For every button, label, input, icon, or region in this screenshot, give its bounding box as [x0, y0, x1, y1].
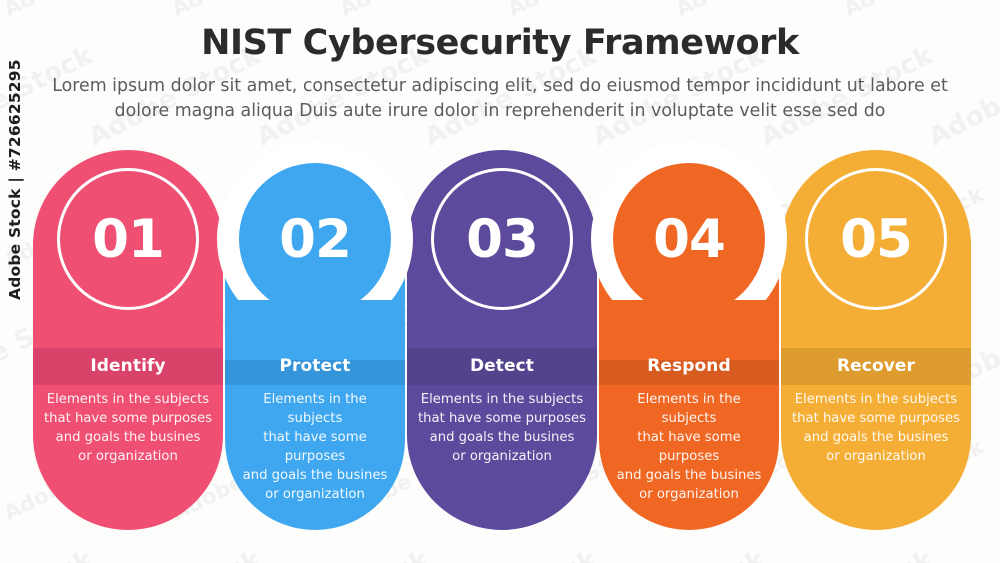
card-number-circle: 01 — [57, 168, 199, 310]
card-number-circle: 02 — [244, 168, 386, 310]
card-number: 01 — [92, 213, 164, 266]
card-description: Elements in the subjects that have some … — [781, 390, 971, 466]
card-number-circle: 04 — [618, 168, 760, 310]
page-title: NIST Cybersecurity Framework — [0, 0, 1000, 64]
card-title: Protect — [225, 353, 405, 379]
framework-card[interactable]: 03DetectElements in the subjects that ha… — [407, 150, 597, 530]
card-number-circle: 03 — [431, 168, 573, 310]
card-number: 05 — [840, 213, 912, 266]
framework-card[interactable]: 01IdentifyElements in the subjects that … — [33, 150, 223, 530]
card-number: 03 — [466, 213, 538, 266]
infographic-canvas: Adobe StockAdobe StockAdobe StockAdobe S… — [0, 0, 1000, 563]
page-subtitle: Lorem ipsum dolor sit amet, consectetur … — [50, 74, 950, 124]
framework-card[interactable]: 04RespondElements in the subjects that h… — [599, 150, 779, 530]
header: NIST Cybersecurity Framework Lorem ipsum… — [0, 0, 1000, 124]
card-description: Elements in the subjects that have some … — [599, 390, 779, 504]
stock-credit-label: Adobe Stock | #726625295 — [6, 59, 24, 300]
card-number-circle: 05 — [805, 168, 947, 310]
card-number: 04 — [653, 213, 725, 266]
card-description: Elements in the subjects that have some … — [225, 390, 405, 504]
card-title: Recover — [781, 353, 971, 379]
card-number: 02 — [279, 213, 351, 266]
card-title: Identify — [33, 353, 223, 379]
framework-card[interactable]: 02ProtectElements in the subjects that h… — [225, 150, 405, 530]
card-description: Elements in the subjects that have some … — [407, 390, 597, 466]
card-title: Detect — [407, 353, 597, 379]
card-title: Respond — [599, 353, 779, 379]
framework-card[interactable]: 05RecoverElements in the subjects that h… — [781, 150, 971, 530]
card-description: Elements in the subjects that have some … — [33, 390, 223, 466]
